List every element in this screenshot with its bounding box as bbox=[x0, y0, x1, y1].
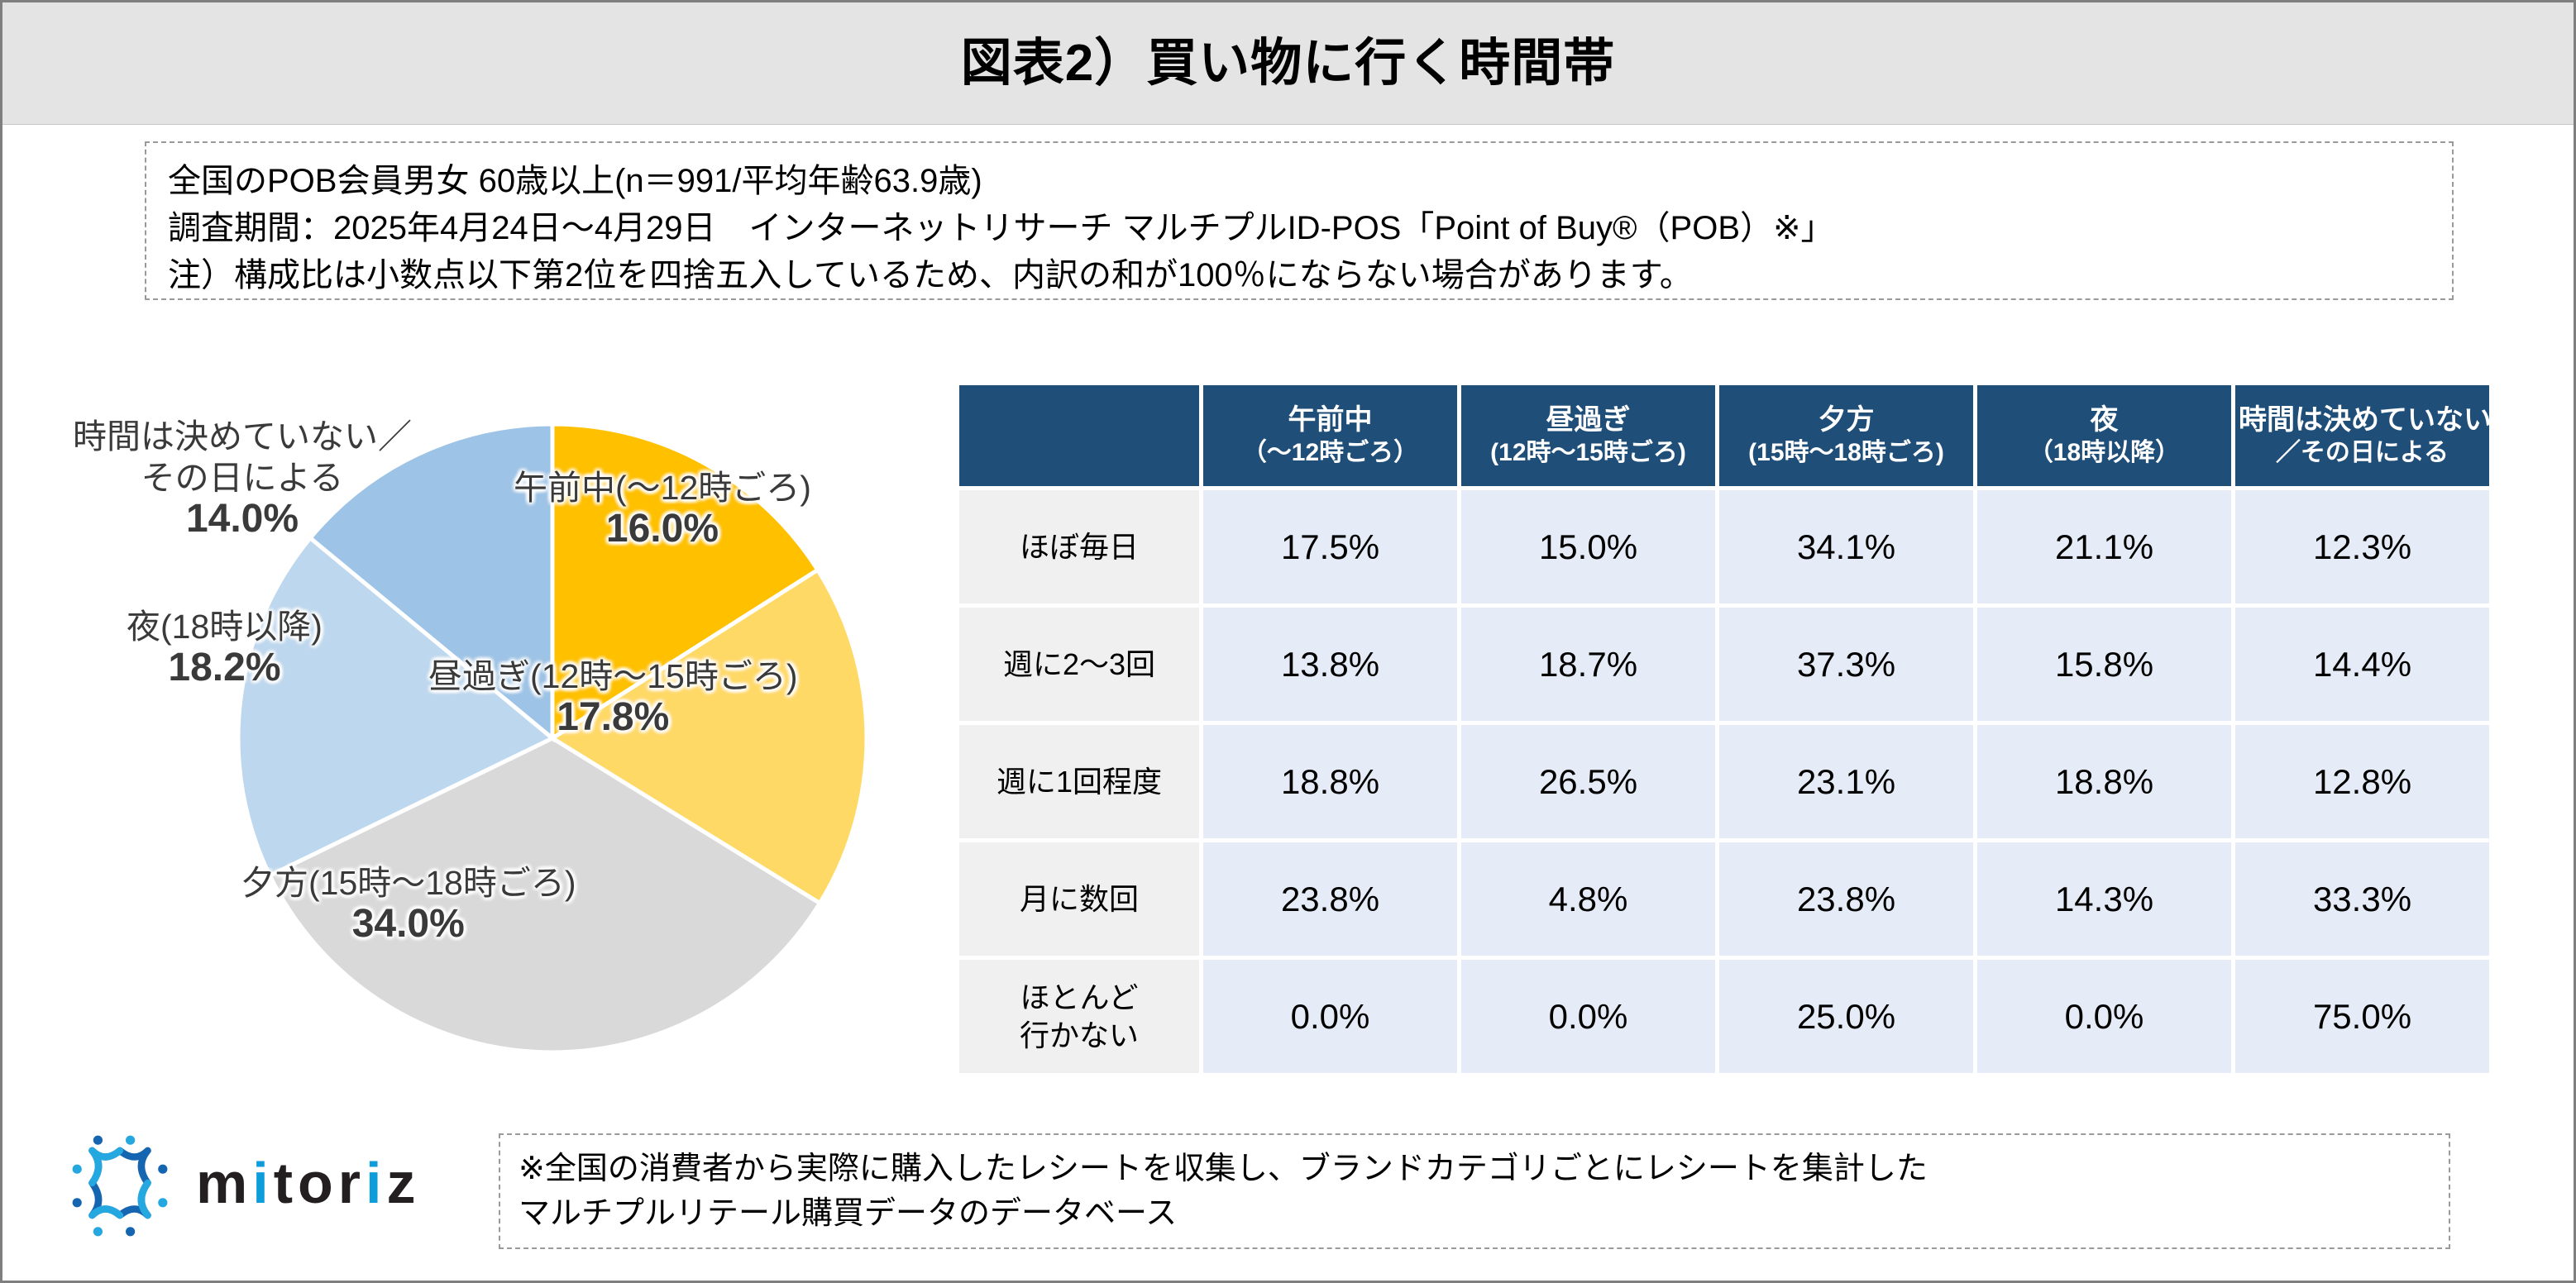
table-cell-value: 14.4% bbox=[2235, 608, 2489, 721]
survey-description-box: 全国のPOB会員男女 60歳以上(n＝991/平均年齢63.9歳) 調査期間：2… bbox=[145, 141, 2454, 300]
table-col-afternoon: 昼過ぎ (12時～15時ごろ) bbox=[1461, 385, 1715, 486]
table-cell-value: 12.8% bbox=[2235, 725, 2489, 838]
footnote-box: ※全国の消費者から実際に購入したレシートを収集し、ブランドカテゴリごとにレシート… bbox=[499, 1133, 2450, 1249]
table-col-evening-sub: (15時～18時ごろ) bbox=[1723, 437, 1970, 469]
table-row-label: ほぼ毎日 bbox=[959, 490, 1199, 603]
table-cell-value: 13.8% bbox=[1203, 608, 1457, 721]
table-header-row: 午前中 （～12時ごろ） 昼過ぎ (12時～15時ごろ) 夕方 (15時～18時… bbox=[959, 385, 2489, 486]
table-cell-value: 23.8% bbox=[1719, 842, 1973, 956]
table-col-evening-main: 夕方 bbox=[1723, 403, 1970, 437]
table-row: 週に1回程度18.8%26.5%23.1%18.8%12.8% bbox=[959, 725, 2489, 838]
mitoriz-logo: mitoriz bbox=[62, 1117, 476, 1249]
table-cell-value: 0.0% bbox=[1977, 960, 2231, 1073]
table-col-undecided: 時間は決めていない ／その日による bbox=[2235, 385, 2489, 486]
table-cell-value: 17.5% bbox=[1203, 490, 1457, 603]
table-cell-value: 18.8% bbox=[1977, 725, 2231, 838]
data-table: 午前中 （～12時ごろ） 昼過ぎ (12時～15時ごろ) 夕方 (15時～18時… bbox=[955, 381, 2493, 1077]
pie-label-afternoon: 昼過ぎ(12時～15時ごろ) 17.8% bbox=[428, 656, 798, 738]
mitoriz-logo-icon bbox=[62, 1125, 178, 1241]
table-cell-value: 37.3% bbox=[1719, 608, 1973, 721]
table-row-label-line-2: 行かない bbox=[959, 1017, 1199, 1055]
description-line-1: 全国のPOB会員男女 60歳以上(n＝991/平均年齢63.9歳) bbox=[168, 158, 2430, 205]
table-row-label: ほとんど行かない bbox=[959, 960, 1199, 1073]
pie-label-undecided-value: 14.0% bbox=[73, 498, 412, 540]
table-cell-value: 0.0% bbox=[1203, 960, 1457, 1073]
table-col-undecided-main: 時間は決めていない bbox=[2239, 403, 2486, 437]
table-col-undecided-sub: ／その日による bbox=[2239, 437, 2486, 469]
table-row: ほぼ毎日17.5%15.0%34.1%21.1%12.3% bbox=[959, 490, 2489, 603]
table-cell-value: 26.5% bbox=[1461, 725, 1715, 838]
table-corner-cell bbox=[959, 385, 1199, 486]
table-col-morning-main: 午前中 bbox=[1207, 403, 1454, 437]
pie-label-undecided-text-2: その日による bbox=[141, 459, 344, 497]
description-line-2: 調査期間：2025年4月24日〜4月29日 インターネットリサーチ マルチプルI… bbox=[168, 205, 2430, 252]
table-col-morning: 午前中 （～12時ごろ） bbox=[1203, 385, 1457, 486]
pie-label-evening-value: 34.0% bbox=[241, 904, 576, 945]
slide-root: 図表2）買い物に行く時間帯 全国のPOB会員男女 60歳以上(n＝991/平均年… bbox=[0, 0, 2576, 1283]
footnote-line-1: ※全国の消費者から実際に購入したレシートを収集し、ブランドカテゴリごとにレシート… bbox=[519, 1147, 2430, 1191]
pie-chart: 午前中(～12時ごろ) 16.0% 昼過ぎ(12時～15時ごろ) 17.8% 夕… bbox=[102, 366, 953, 1052]
table-cell-value: 15.0% bbox=[1461, 490, 1715, 603]
table-row-label: 週に1回程度 bbox=[959, 725, 1199, 838]
table-cell-value: 23.8% bbox=[1203, 842, 1457, 956]
table-row-label: 週に2〜3回 bbox=[959, 608, 1199, 721]
footnote-line-2: マルチプルリテール購買データのデータベース bbox=[519, 1191, 2430, 1236]
table-row-label: 月に数回 bbox=[959, 842, 1199, 956]
description-line-3: 注）構成比は小数点以下第2位を四捨五入しているため、内訳の和が100％にならない… bbox=[168, 252, 2430, 299]
pie-label-afternoon-value: 17.8% bbox=[428, 697, 798, 738]
pie-label-night: 夜(18時以降) 18.2% bbox=[127, 606, 323, 689]
table-cell-value: 18.7% bbox=[1461, 608, 1715, 721]
table-col-afternoon-main: 昼過ぎ bbox=[1465, 403, 1712, 437]
table-col-evening: 夕方 (15時～18時ごろ) bbox=[1719, 385, 1973, 486]
table-cell-value: 15.8% bbox=[1977, 608, 2231, 721]
page-title: 図表2）買い物に行く時間帯 bbox=[961, 38, 1615, 89]
pie-label-evening-text: 夕方(15時～18時ごろ) bbox=[241, 864, 576, 902]
pie-label-morning-value: 16.0% bbox=[514, 508, 811, 550]
table-row: ほとんど行かない0.0%0.0%25.0%0.0%75.0% bbox=[959, 960, 2489, 1073]
table-cell-value: 34.1% bbox=[1719, 490, 1973, 603]
pie-label-afternoon-text: 昼過ぎ(12時～15時ごろ) bbox=[428, 657, 798, 695]
logo-char-z: z bbox=[386, 1151, 420, 1215]
table-col-morning-sub: （～12時ごろ） bbox=[1207, 437, 1454, 469]
mitoriz-logo-text: mitoriz bbox=[196, 1154, 420, 1212]
table-row-label-line-1: ほとんど bbox=[959, 979, 1199, 1017]
table-cell-value: 23.1% bbox=[1719, 725, 1973, 838]
table-col-night-main: 夜 bbox=[1981, 403, 2228, 437]
pie-label-undecided-text-1: 時間は決めていない／ bbox=[73, 417, 412, 455]
table-col-afternoon-sub: (12時～15時ごろ) bbox=[1465, 437, 1712, 469]
table-body: ほぼ毎日17.5%15.0%34.1%21.1%12.3%週に2〜3回13.8%… bbox=[959, 490, 2489, 1073]
table-cell-value: 12.3% bbox=[2235, 490, 2489, 603]
table-head: 午前中 （～12時ごろ） 昼過ぎ (12時～15時ごろ) 夕方 (15時～18時… bbox=[959, 385, 2489, 486]
pie-label-night-text: 夜(18時以降) bbox=[127, 608, 323, 646]
logo-char-i2: i bbox=[366, 1151, 386, 1215]
table-col-night: 夜 （18時以降） bbox=[1977, 385, 2231, 486]
pie-label-night-value: 18.2% bbox=[127, 647, 323, 689]
header-band: 図表2）買い物に行く時間帯 bbox=[2, 2, 2574, 125]
table-cell-value: 75.0% bbox=[2235, 960, 2489, 1073]
table-cell-value: 0.0% bbox=[1461, 960, 1715, 1073]
logo-char-m: m bbox=[196, 1151, 252, 1215]
table-cell-value: 25.0% bbox=[1719, 960, 1973, 1073]
pie-label-morning: 午前中(～12時ごろ) 16.0% bbox=[514, 467, 811, 550]
pie-label-undecided: 時間は決めていない／ その日による 14.0% bbox=[73, 416, 412, 540]
cross-tab-table: 午前中 （～12時ごろ） 昼過ぎ (12時～15時ごろ) 夕方 (15時～18時… bbox=[955, 381, 2493, 1077]
table-cell-value: 14.3% bbox=[1977, 842, 2231, 956]
table-row: 週に2〜3回13.8%18.7%37.3%15.8%14.4% bbox=[959, 608, 2489, 721]
table-cell-value: 18.8% bbox=[1203, 725, 1457, 838]
logo-char-i1: i bbox=[252, 1151, 273, 1215]
pie-label-evening: 夕方(15時～18時ごろ) 34.0% bbox=[241, 862, 576, 945]
table-cell-value: 4.8% bbox=[1461, 842, 1715, 956]
table-row: 月に数回23.8%4.8%23.8%14.3%33.3% bbox=[959, 842, 2489, 956]
table-cell-value: 21.1% bbox=[1977, 490, 2231, 603]
pie-label-morning-text: 午前中(～12時ごろ) bbox=[514, 469, 811, 507]
table-cell-value: 33.3% bbox=[2235, 842, 2489, 956]
table-col-night-sub: （18時以降） bbox=[1981, 437, 2228, 469]
logo-char-tor: tor bbox=[274, 1151, 366, 1215]
